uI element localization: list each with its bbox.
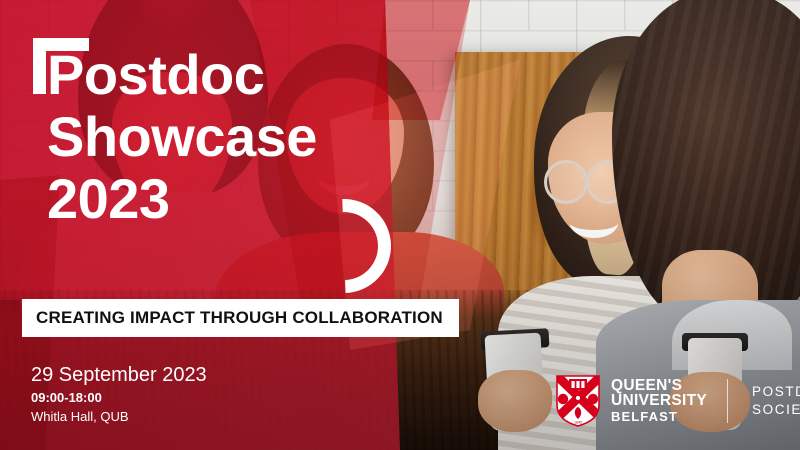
logo-divider [727,379,728,423]
society-line-1: POSTDOC [752,383,800,401]
society-line-2: SOCIETY [752,401,800,419]
title-line-1: Postdoc [47,44,317,106]
queens-university-crest-icon: 1845 [556,375,600,427]
event-title: Postdoc Showcase 2023 [47,44,317,230]
title-line-3: 2023 [47,168,317,230]
event-time: 09:00-18:00 [31,388,207,407]
event-promo-banner: Postdoc Showcase 2023 CREATING IMPACT TH… [0,0,800,450]
society-wordmark: POSTDOC SOCIETY [752,383,800,419]
event-venue: Whitla Hall, QUB [31,407,207,427]
event-details: 29 September 2023 09:00-18:00 Whitla Hal… [31,362,207,427]
university-line-3: BELFAST [611,409,707,425]
crest-motto: 1845 [574,421,582,425]
university-wordmark: QUEEN'S UNIVERSITY BELFAST [611,378,707,425]
university-line-2: UNIVERSITY [611,393,707,409]
event-date: 29 September 2023 [31,362,207,388]
university-line-1: QUEEN'S [611,378,707,394]
logo-lockup: 1845 QUEEN'S UNIVERSITY BELFAST POSTDOC … [556,375,800,427]
event-tagline: CREATING IMPACT THROUGH COLLABORATION [22,299,459,337]
title-line-2: Showcase [47,106,317,168]
